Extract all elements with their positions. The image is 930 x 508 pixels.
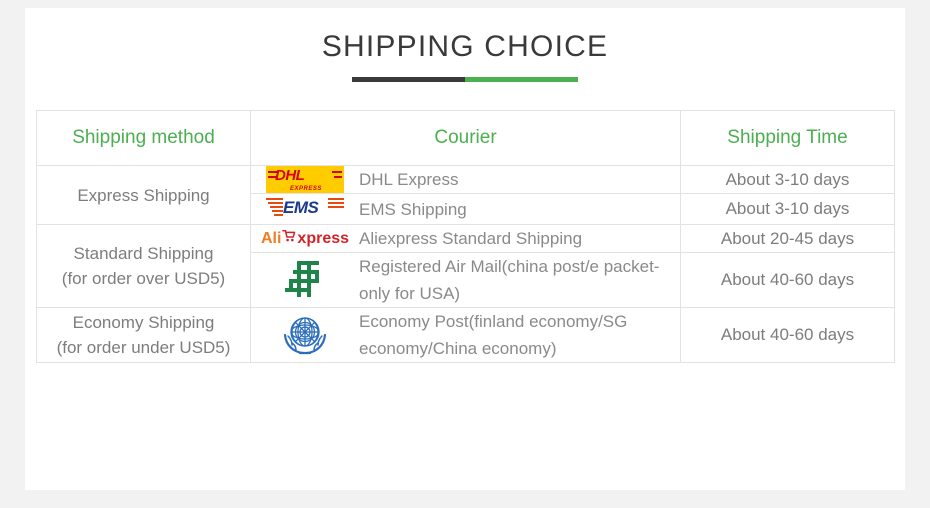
method-label: Express Shipping: [37, 183, 250, 208]
china-post-logo: [283, 259, 327, 301]
title-block: SHIPPING CHOICE: [25, 8, 905, 82]
time-cell: About 40-60 days: [681, 308, 895, 363]
page-title: SHIPPING CHOICE: [25, 30, 905, 63]
logo-slot: [251, 259, 359, 301]
courier-cell-aliexpress: Ali xpress: [251, 225, 681, 253]
method-note: (for order over USD5): [37, 266, 250, 291]
table-header-row: Shipping method Courier Shipping Time: [37, 111, 895, 166]
table-row: Express Shipping DHL EXPRESS: [37, 166, 895, 194]
dhl-logo: DHL EXPRESS: [266, 166, 344, 193]
time-cell: About 40-60 days: [681, 253, 895, 308]
table-row: Economy Shipping (for order under USD5): [37, 308, 895, 363]
title-underline-dark-segment: [352, 77, 465, 82]
aliexpress-logo-part2: xpress: [297, 230, 349, 248]
table-row: Standard Shipping (for order over USD5) …: [37, 225, 895, 253]
courier-cell-dhl: DHL EXPRESS DHL Express: [251, 166, 681, 194]
courier-cell-china-post: Registered Air Mail(china post/e packet-…: [251, 253, 681, 308]
method-label: Standard Shipping: [37, 241, 250, 266]
method-cell-express: Express Shipping: [37, 166, 251, 225]
logo-slot: EMS: [251, 194, 359, 224]
method-label: Economy Shipping: [37, 310, 250, 335]
courier-label: EMS Shipping: [359, 196, 467, 223]
header-shipping-time: Shipping Time: [681, 111, 895, 166]
ems-logo: EMS: [266, 194, 344, 224]
time-cell: About 3-10 days: [681, 166, 895, 194]
courier-cell-economy-post: Economy Post(finland economy/SG economy/…: [251, 308, 681, 363]
time-cell: About 3-10 days: [681, 194, 895, 225]
title-underline: [352, 77, 578, 82]
shipping-table: Shipping method Courier Shipping Time Ex…: [36, 110, 895, 363]
logo-slot: [251, 309, 359, 361]
dhl-logo-subtext: EXPRESS: [290, 186, 322, 192]
courier-label: Economy Post(finland economy/SG economy/…: [359, 308, 680, 362]
header-courier: Courier: [251, 111, 681, 166]
time-cell: About 20-45 days: [681, 225, 895, 253]
aliexpress-logo-part1: Ali: [261, 230, 281, 248]
courier-label: Registered Air Mail(china post/e packet-…: [359, 253, 680, 307]
dhl-logo-text: DHL: [275, 167, 304, 184]
method-cell-economy: Economy Shipping (for order under USD5): [37, 308, 251, 363]
courier-cell-ems: EMS EMS Shipping: [251, 194, 681, 225]
courier-label: DHL Express: [359, 166, 459, 193]
shipping-card: SHIPPING CHOICE Shipping method Courier …: [25, 8, 905, 490]
ems-logo-text: EMS: [283, 198, 318, 218]
logo-slot: Ali xpress: [251, 229, 359, 248]
united-nations-logo: [279, 309, 331, 361]
aliexpress-logo: Ali xpress: [261, 229, 349, 248]
courier-label: Aliexpress Standard Shipping: [359, 225, 582, 252]
method-cell-standard: Standard Shipping (for order over USD5): [37, 225, 251, 308]
header-shipping-method: Shipping method: [37, 111, 251, 166]
shopping-cart-icon: [282, 229, 296, 248]
logo-slot: DHL EXPRESS: [251, 166, 359, 193]
title-underline-green-segment: [465, 77, 578, 82]
method-note: (for order under USD5): [37, 335, 250, 360]
